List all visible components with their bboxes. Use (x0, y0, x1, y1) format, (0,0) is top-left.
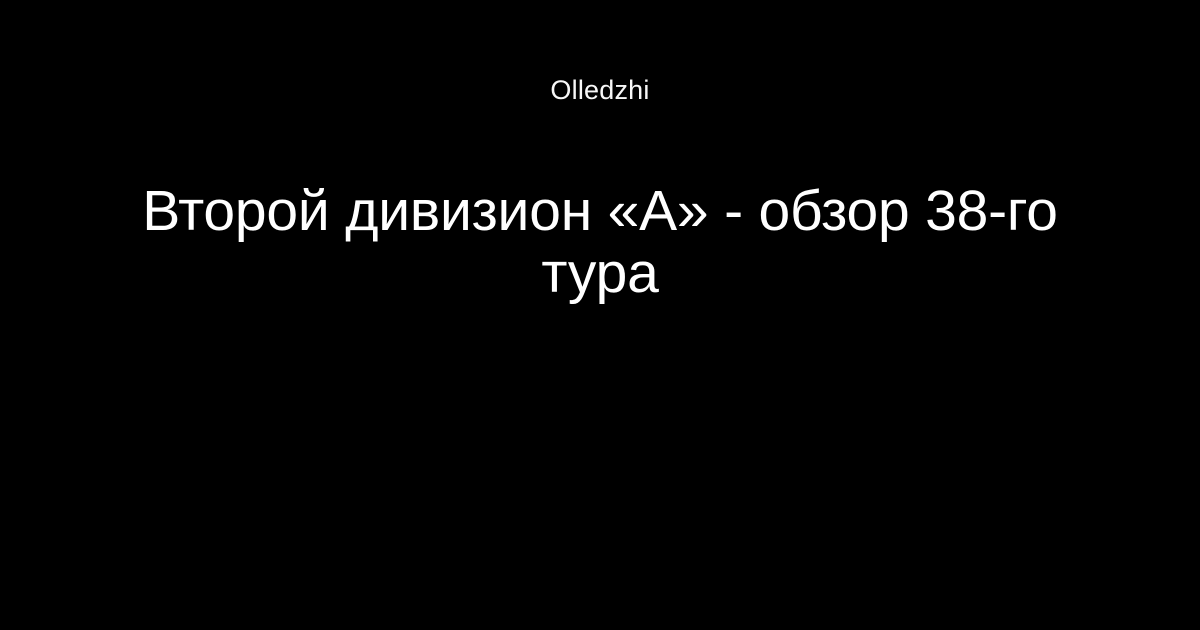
empty-lower-region (0, 440, 1200, 630)
headline-container: Второй дивизион «А» - обзор 38-го тура (0, 180, 1200, 440)
brand-header: Olledzhi (0, 0, 1200, 180)
site-brand-name: Olledzhi (550, 74, 649, 106)
social-share-card: Olledzhi Второй дивизион «А» - обзор 38-… (0, 0, 1200, 630)
page-title: Второй дивизион «А» - обзор 38-го тура (124, 180, 1076, 304)
